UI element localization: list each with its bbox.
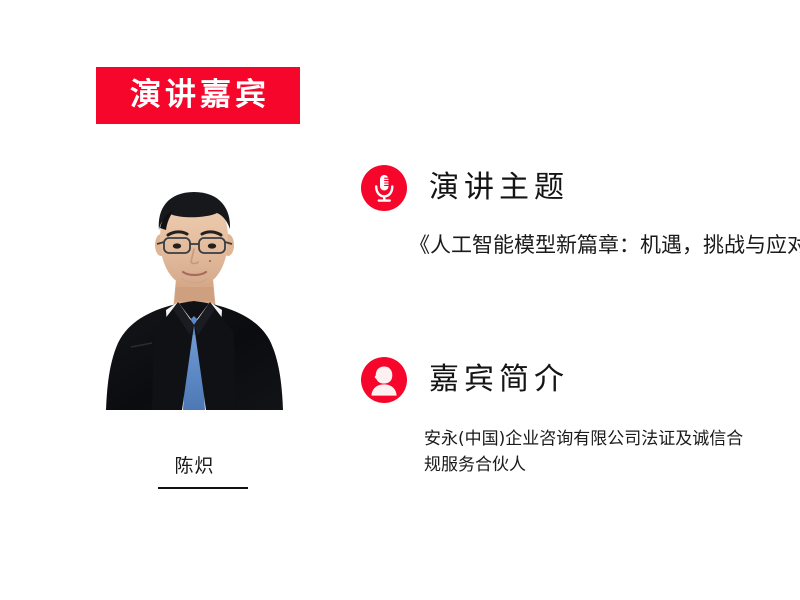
speaker-photo bbox=[104, 183, 285, 410]
bio-text: 安永(中国)企业咨询有限公司法证及诚信合规服务合伙人 bbox=[424, 427, 754, 478]
topic-text: 《人工智能模型新篇章：机遇，挑战与应对》 bbox=[409, 231, 800, 259]
banner-label: 演讲嘉宾 bbox=[126, 80, 270, 111]
speaker-intro-slide: 演讲嘉宾 bbox=[0, 0, 800, 600]
name-underline bbox=[158, 487, 248, 489]
microphone-icon bbox=[361, 165, 407, 211]
speaker-name: 陈炽 bbox=[104, 455, 285, 478]
bio-section-title: 嘉宾简介 bbox=[429, 365, 569, 395]
section-banner: 演讲嘉宾 bbox=[96, 67, 300, 124]
person-icon bbox=[361, 357, 407, 403]
bio-section-header: 嘉宾简介 bbox=[361, 357, 569, 403]
topic-section-title: 演讲主题 bbox=[429, 173, 569, 203]
topic-section-header: 演讲主题 bbox=[361, 165, 569, 211]
